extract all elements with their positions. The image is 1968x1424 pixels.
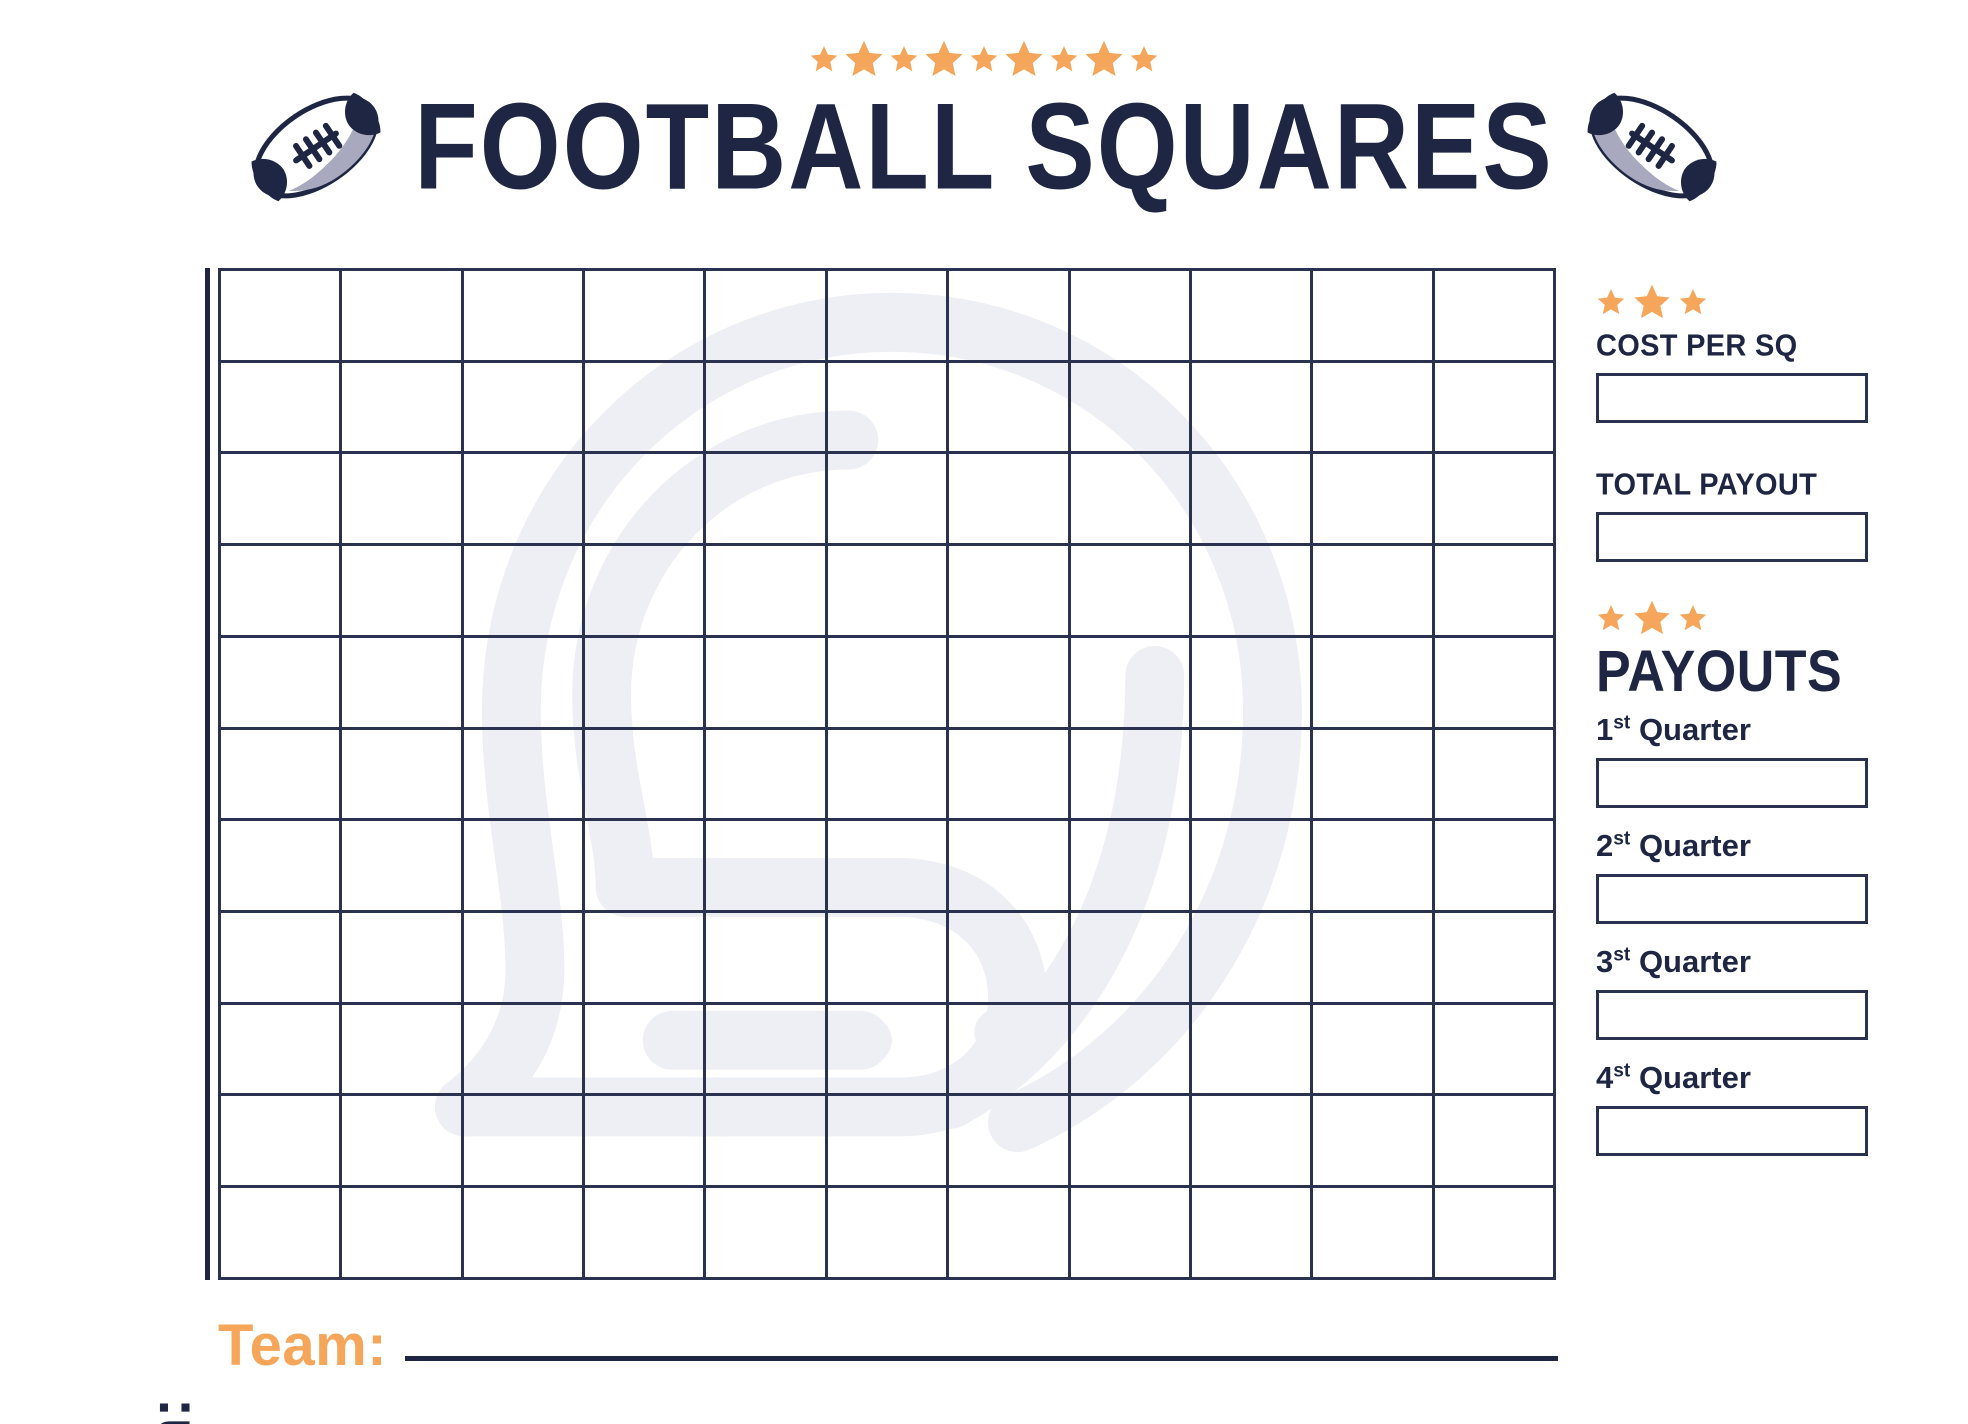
sidebar: COST PER SQ TOTAL PAYOUT PAYOUTS 1st Qua… xyxy=(1596,280,1886,1156)
star-icon xyxy=(1678,603,1708,633)
football-icon xyxy=(1576,81,1728,213)
page-title: FOOTBALL SQUARES xyxy=(414,86,1553,209)
square-cell[interactable] xyxy=(1433,453,1554,545)
square-cell[interactable] xyxy=(948,728,1069,820)
quarter-ordinal: 4 xyxy=(1596,1060,1613,1095)
cost-per-sq-label: COST PER SQ xyxy=(1596,329,1886,364)
square-cell[interactable] xyxy=(1433,912,1554,1004)
column-header-cell[interactable] xyxy=(341,270,462,362)
star-icon xyxy=(1678,287,1708,317)
column-header-cell[interactable] xyxy=(705,270,826,362)
square-cell[interactable] xyxy=(1069,912,1190,1004)
row-header-cell[interactable] xyxy=(220,1187,341,1279)
title-line: FOOTBALL SQUARES xyxy=(0,72,1968,222)
quarter-word: Quarter xyxy=(1630,712,1751,747)
table-row xyxy=(220,636,1555,728)
star-icon xyxy=(1632,282,1672,322)
grid-corner-cell xyxy=(220,270,341,362)
square-cell[interactable] xyxy=(1312,545,1433,637)
square-cell[interactable] xyxy=(826,361,947,453)
star-icon xyxy=(1049,44,1079,74)
quarter-ordinal: 1 xyxy=(1596,712,1613,747)
square-cell[interactable] xyxy=(584,636,705,728)
sidebar-star-row-top xyxy=(1596,280,1886,324)
star-icon xyxy=(1596,287,1626,317)
square-cell[interactable] xyxy=(1069,820,1190,912)
square-cell[interactable] xyxy=(341,912,462,1004)
square-cell[interactable] xyxy=(826,820,947,912)
square-cell[interactable] xyxy=(1069,1003,1190,1095)
square-cell[interactable] xyxy=(584,361,705,453)
square-cell[interactable] xyxy=(462,545,583,637)
square-cell[interactable] xyxy=(1312,1095,1433,1187)
quarter-word: Quarter xyxy=(1630,944,1751,979)
star-icon xyxy=(809,44,839,74)
table-row xyxy=(220,453,1555,545)
square-cell[interactable] xyxy=(705,728,826,820)
square-cell[interactable] xyxy=(1312,912,1433,1004)
quarter-ordinal-suffix: st xyxy=(1613,1061,1630,1082)
team-left-rule xyxy=(205,268,210,1280)
column-header-cell[interactable] xyxy=(1433,270,1554,362)
star-icon xyxy=(1129,44,1159,74)
square-cell[interactable] xyxy=(1312,453,1433,545)
table-row xyxy=(220,270,1555,362)
square-cell[interactable] xyxy=(1312,820,1433,912)
quarter-ordinal: 2 xyxy=(1596,828,1613,863)
table-row xyxy=(220,1187,1555,1279)
star-icon xyxy=(889,44,919,74)
square-cell[interactable] xyxy=(1190,636,1311,728)
square-cell[interactable] xyxy=(341,636,462,728)
square-cell[interactable] xyxy=(1190,1003,1311,1095)
square-cell[interactable] xyxy=(584,1187,705,1279)
squares-grid[interactable] xyxy=(218,268,1556,1280)
square-cell[interactable] xyxy=(341,1187,462,1279)
square-cell[interactable] xyxy=(705,1095,826,1187)
square-cell[interactable] xyxy=(462,453,583,545)
square-cell[interactable] xyxy=(1069,545,1190,637)
square-cell[interactable] xyxy=(826,1187,947,1279)
square-cell[interactable] xyxy=(1190,545,1311,637)
square-cell[interactable] xyxy=(1069,636,1190,728)
quarter-2-label: 2st Quarter xyxy=(1596,828,1886,864)
square-cell[interactable] xyxy=(462,728,583,820)
quarter-1-label: 1st Quarter xyxy=(1596,712,1886,748)
square-cell[interactable] xyxy=(584,820,705,912)
quarter-3-payout-input[interactable] xyxy=(1596,990,1868,1040)
square-cell[interactable] xyxy=(826,1095,947,1187)
table-row xyxy=(220,545,1555,637)
row-header-cell[interactable] xyxy=(220,453,341,545)
quarter-ordinal-suffix: st xyxy=(1613,829,1630,850)
quarter-1-payout-input[interactable] xyxy=(1596,758,1868,808)
square-cell[interactable] xyxy=(462,1003,583,1095)
team-bottom-block: Team: xyxy=(218,1300,1558,1390)
row-header-cell[interactable] xyxy=(220,545,341,637)
cost-per-sq-input[interactable] xyxy=(1596,373,1868,423)
square-cell[interactable] xyxy=(1433,361,1554,453)
sidebar-star-row-payouts xyxy=(1596,596,1886,640)
square-cell[interactable] xyxy=(1312,728,1433,820)
square-cell[interactable] xyxy=(705,1003,826,1095)
square-cell[interactable] xyxy=(584,453,705,545)
column-header-cell[interactable] xyxy=(826,270,947,362)
square-cell[interactable] xyxy=(341,1003,462,1095)
payouts-title: PAYOUTS xyxy=(1596,643,1886,701)
square-cell[interactable] xyxy=(1069,453,1190,545)
column-header-cell[interactable] xyxy=(1312,270,1433,362)
square-cell[interactable] xyxy=(1433,820,1554,912)
square-cell[interactable] xyxy=(1069,361,1190,453)
square-cell[interactable] xyxy=(948,636,1069,728)
column-header-cell[interactable] xyxy=(948,270,1069,362)
square-cell[interactable] xyxy=(948,1003,1069,1095)
square-cell[interactable] xyxy=(826,545,947,637)
quarter-2-payout-input[interactable] xyxy=(1596,874,1868,924)
square-cell[interactable] xyxy=(948,1187,1069,1279)
square-cell[interactable] xyxy=(1069,728,1190,820)
square-cell[interactable] xyxy=(1312,1003,1433,1095)
quarter-ordinal-suffix: st xyxy=(1613,945,1630,966)
football-icon xyxy=(240,81,392,213)
table-row xyxy=(220,728,1555,820)
row-header-cell[interactable] xyxy=(220,1003,341,1095)
square-cell[interactable] xyxy=(1312,1187,1433,1279)
square-cell[interactable] xyxy=(1433,1095,1554,1187)
square-cell[interactable] xyxy=(826,912,947,1004)
star-icon xyxy=(1632,598,1672,638)
square-cell[interactable] xyxy=(1190,361,1311,453)
square-cell[interactable] xyxy=(1433,545,1554,637)
table-row xyxy=(220,820,1555,912)
quarter-ordinal: 3 xyxy=(1596,944,1613,979)
square-cell[interactable] xyxy=(826,728,947,820)
square-cell[interactable] xyxy=(584,912,705,1004)
square-cell[interactable] xyxy=(1190,1187,1311,1279)
star-icon xyxy=(1596,603,1626,633)
square-cell[interactable] xyxy=(1312,361,1433,453)
row-header-cell[interactable] xyxy=(220,361,341,453)
quarter-ordinal-suffix: st xyxy=(1613,713,1630,734)
square-cell[interactable] xyxy=(584,545,705,637)
team-bottom-label[interactable]: Team: xyxy=(218,1312,387,1379)
square-cell[interactable] xyxy=(948,912,1069,1004)
square-cell[interactable] xyxy=(705,1187,826,1279)
total-payout-label: TOTAL PAYOUT xyxy=(1596,468,1886,503)
team-bottom-rule[interactable] xyxy=(405,1356,1558,1361)
column-header-cell[interactable] xyxy=(1190,270,1311,362)
square-cell[interactable] xyxy=(948,1095,1069,1187)
square-cell[interactable] xyxy=(1190,453,1311,545)
row-header-cell[interactable] xyxy=(220,636,341,728)
square-cell[interactable] xyxy=(948,453,1069,545)
square-cell[interactable] xyxy=(705,636,826,728)
square-cell[interactable] xyxy=(1190,912,1311,1004)
square-cell[interactable] xyxy=(1433,1187,1554,1279)
square-cell[interactable] xyxy=(705,361,826,453)
square-cell[interactable] xyxy=(584,728,705,820)
row-header-cell[interactable] xyxy=(220,728,341,820)
square-cell[interactable] xyxy=(1433,728,1554,820)
square-cell[interactable] xyxy=(948,545,1069,637)
square-cell[interactable] xyxy=(705,912,826,1004)
quarter-3-label: 3st Quarter xyxy=(1596,944,1886,980)
row-header-cell[interactable] xyxy=(220,912,341,1004)
squares-grid-block xyxy=(218,268,1556,1280)
square-cell[interactable] xyxy=(1069,1187,1190,1279)
row-header-cell[interactable] xyxy=(220,820,341,912)
star-icon xyxy=(969,44,999,74)
table-row xyxy=(220,1095,1555,1187)
payout-quarters-list: 1st Quarter2st Quarter3st Quarter4st Qua… xyxy=(1596,712,1886,1156)
team-left-block: Team: xyxy=(130,268,210,1280)
square-cell[interactable] xyxy=(948,361,1069,453)
column-header-cell[interactable] xyxy=(462,270,583,362)
total-payout-input[interactable] xyxy=(1596,512,1868,562)
square-cell[interactable] xyxy=(341,728,462,820)
square-cell[interactable] xyxy=(705,820,826,912)
table-row xyxy=(220,912,1555,1004)
square-cell[interactable] xyxy=(341,361,462,453)
square-cell[interactable] xyxy=(462,1095,583,1187)
row-header-cell[interactable] xyxy=(220,1095,341,1187)
square-cell[interactable] xyxy=(826,636,947,728)
square-cell[interactable] xyxy=(462,912,583,1004)
square-cell[interactable] xyxy=(341,820,462,912)
square-cell[interactable] xyxy=(1069,1095,1190,1187)
square-cell[interactable] xyxy=(826,1003,947,1095)
page-header: FOOTBALL SQUARES xyxy=(0,0,1968,250)
square-cell[interactable] xyxy=(341,545,462,637)
square-cell[interactable] xyxy=(948,820,1069,912)
column-header-cell[interactable] xyxy=(1069,270,1190,362)
square-cell[interactable] xyxy=(462,1187,583,1279)
column-header-cell[interactable] xyxy=(584,270,705,362)
square-cell[interactable] xyxy=(1312,636,1433,728)
square-cell[interactable] xyxy=(1433,1003,1554,1095)
table-row xyxy=(220,1003,1555,1095)
square-cell[interactable] xyxy=(584,1095,705,1187)
square-cell[interactable] xyxy=(1433,636,1554,728)
football-squares-page: FOOTBALL SQUARES xyxy=(0,0,1968,1424)
square-cell[interactable] xyxy=(341,1095,462,1187)
quarter-4-payout-input[interactable] xyxy=(1596,1106,1868,1156)
square-cell[interactable] xyxy=(584,1003,705,1095)
square-cell[interactable] xyxy=(1190,1095,1311,1187)
quarter-word: Quarter xyxy=(1630,828,1751,863)
table-row xyxy=(220,361,1555,453)
square-cell[interactable] xyxy=(462,636,583,728)
team-left-label[interactable]: Team: xyxy=(137,947,204,1424)
square-cell[interactable] xyxy=(462,820,583,912)
square-cell[interactable] xyxy=(462,361,583,453)
square-cell[interactable] xyxy=(341,453,462,545)
square-cell[interactable] xyxy=(705,545,826,637)
square-cell[interactable] xyxy=(1190,820,1311,912)
quarter-4-label: 4st Quarter xyxy=(1596,1060,1886,1096)
square-cell[interactable] xyxy=(1190,728,1311,820)
quarter-word: Quarter xyxy=(1630,1060,1751,1095)
square-cell[interactable] xyxy=(705,453,826,545)
square-cell[interactable] xyxy=(826,453,947,545)
